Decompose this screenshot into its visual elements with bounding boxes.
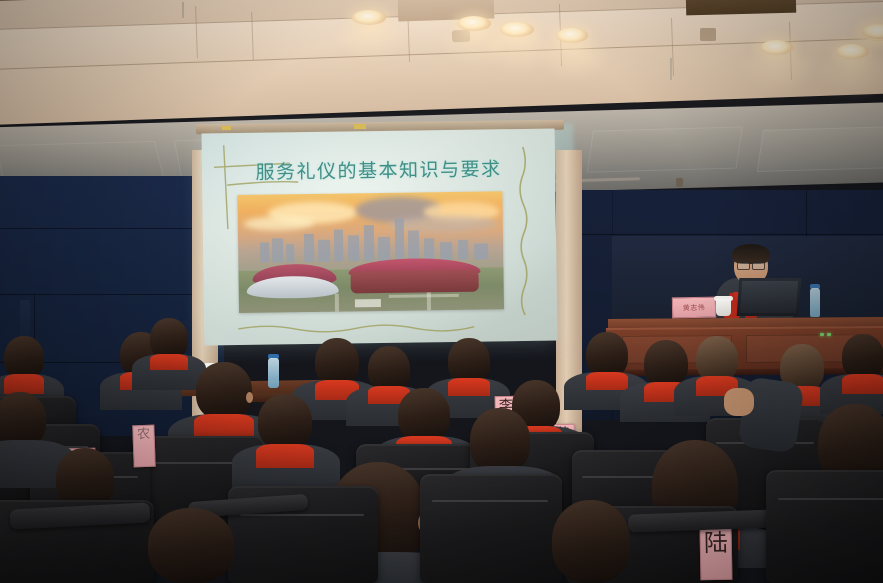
namecard: 农 (132, 425, 155, 468)
chair-seam (432, 500, 548, 502)
water-bottle (810, 288, 820, 317)
building (424, 238, 434, 260)
chair (766, 470, 883, 583)
namecard: 陆 (700, 528, 733, 581)
ceiling-hanger (670, 58, 672, 80)
uniform-collar (4, 374, 44, 394)
person-head (258, 394, 312, 450)
uniform-collar (586, 372, 628, 390)
speaker-nameplate: 黄志伟 (672, 297, 716, 319)
uniform-collar (194, 414, 254, 438)
person-head (398, 388, 450, 442)
downlight-glow (534, 40, 614, 82)
laptop-screen (740, 281, 798, 313)
downlight-glow (738, 52, 820, 94)
roller-label (354, 124, 366, 129)
building (395, 219, 405, 261)
building (286, 244, 294, 262)
namecard-char: 农 (137, 428, 150, 442)
small-building (355, 299, 381, 307)
cloud (388, 215, 498, 233)
building (334, 230, 343, 262)
downlight-glow (330, 22, 410, 62)
person-ear (246, 392, 253, 403)
ceiling-sensor (700, 28, 716, 41)
glasses-icon (737, 262, 750, 270)
slide-title: 服务礼仪的基本知识与要求 (202, 154, 555, 186)
building (272, 238, 283, 262)
nameplate-text: 黄志伟 (683, 302, 706, 312)
person-head (148, 508, 234, 583)
namecard-char: 陆 (704, 531, 728, 556)
roller-label (222, 126, 231, 130)
chair-seam (240, 514, 364, 516)
soffit-coffer (757, 126, 883, 172)
water-bottle (268, 358, 279, 388)
laptop (737, 278, 802, 316)
building (318, 240, 330, 262)
ceiling-hanger (182, 2, 184, 18)
person-head (552, 500, 630, 583)
uniform-collar (150, 354, 188, 370)
slide-photo (237, 191, 504, 313)
building (408, 230, 419, 260)
building (440, 242, 452, 260)
uniform-collar (256, 444, 314, 468)
uniform-collar (448, 378, 490, 396)
projection-screen: 服务礼仪的基本知识与要求 (202, 129, 558, 346)
road (335, 294, 339, 312)
building (260, 243, 269, 263)
cloud (244, 216, 314, 231)
building (348, 235, 359, 261)
road (427, 292, 431, 310)
person-head (470, 408, 530, 474)
indicator-led (820, 333, 824, 336)
person-arm (737, 376, 804, 453)
convention-body (350, 270, 478, 294)
building (458, 240, 468, 260)
building (474, 243, 488, 259)
uniform-collar (842, 374, 883, 394)
ceiling-beam (686, 0, 796, 15)
wall-seam (0, 228, 224, 229)
indicator-led (827, 333, 831, 336)
speaker-hair (732, 244, 770, 264)
building (378, 237, 390, 261)
building (304, 234, 314, 262)
chair-seam (778, 498, 883, 500)
soffit-coffer (587, 126, 743, 172)
sprinkler-head (676, 178, 683, 187)
building (364, 225, 375, 261)
person-head (196, 362, 252, 420)
glasses-icon (752, 262, 765, 270)
person-hand (724, 388, 754, 416)
conference-hall-photo: 服务礼仪的基本知识与要求 (0, 0, 883, 583)
wall-seam (560, 234, 883, 235)
chair (420, 474, 562, 583)
person-head (315, 338, 359, 386)
teacup (716, 299, 731, 316)
